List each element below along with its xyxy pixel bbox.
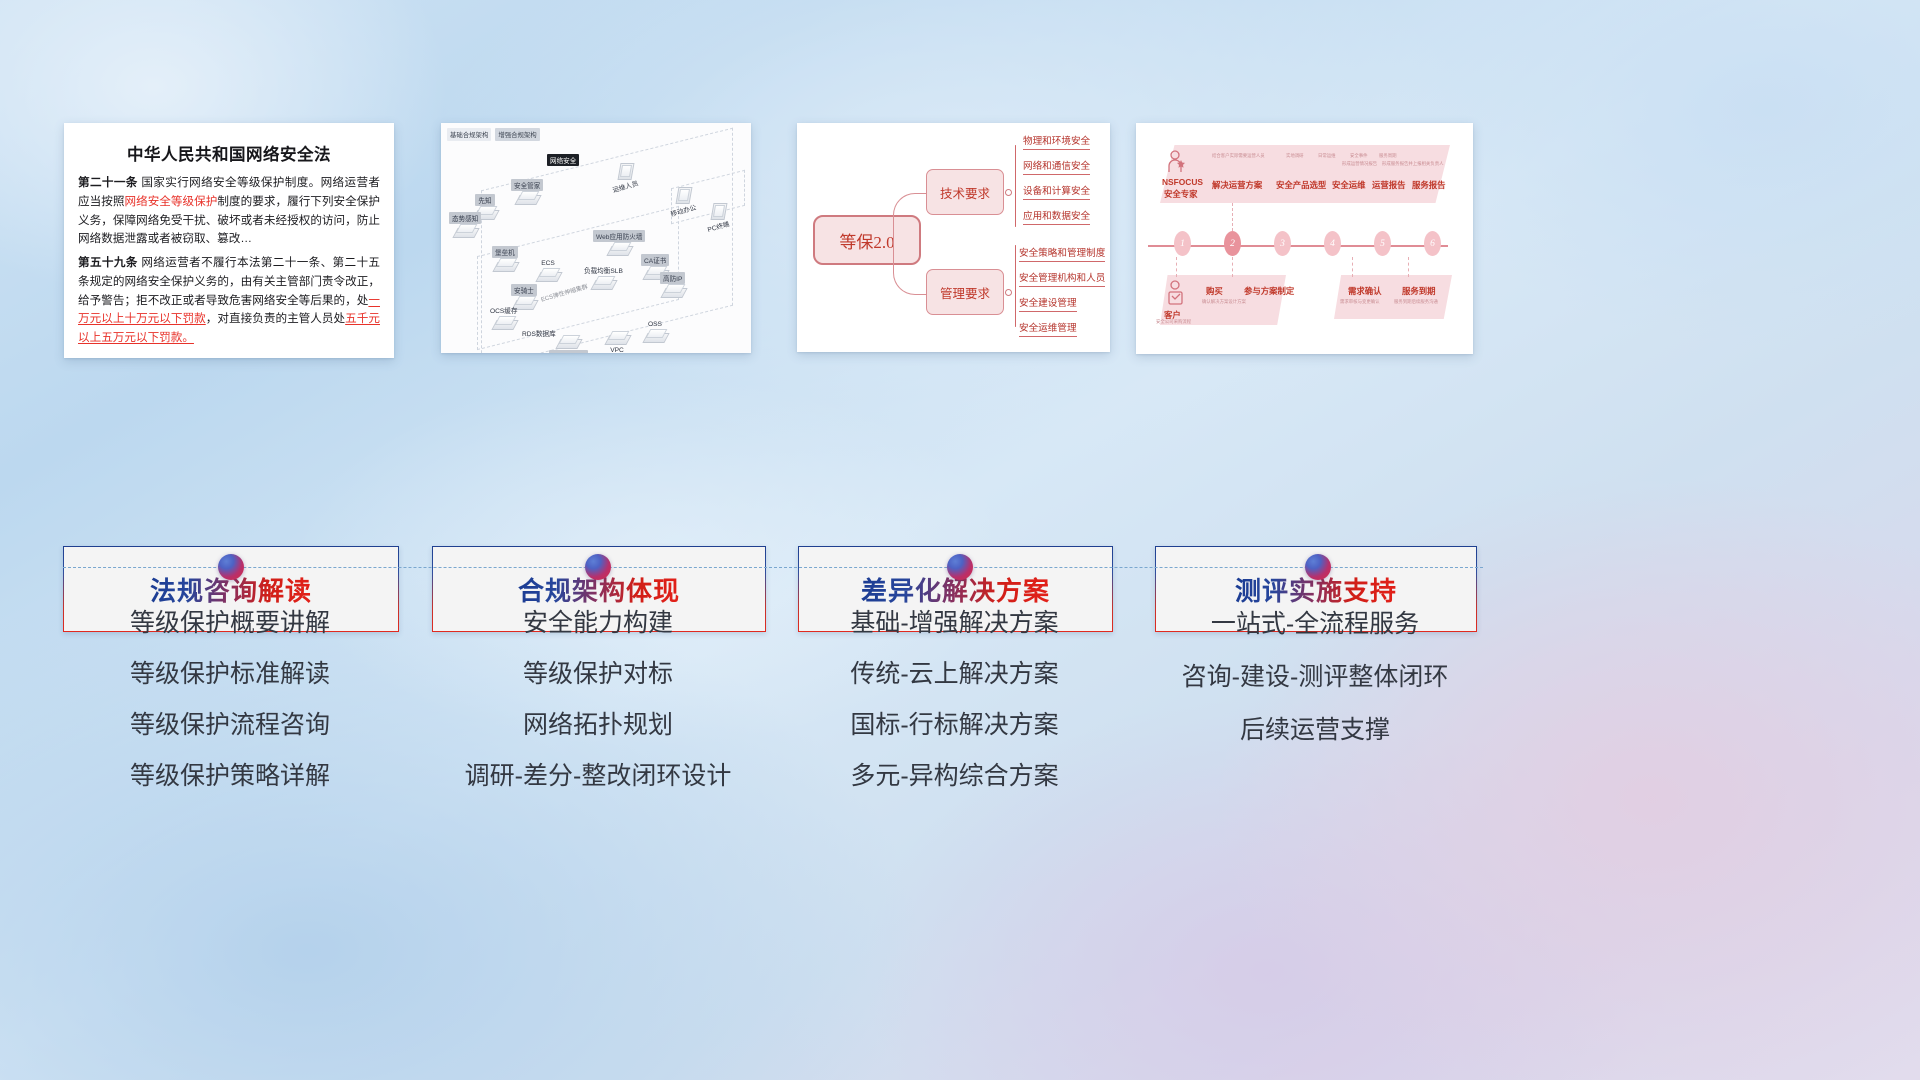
arch-node-security-butler: 安全管家: [511, 178, 543, 205]
arch-tab-basic[interactable]: 基础合规架构: [447, 128, 491, 141]
arch-label: OSS: [645, 320, 665, 329]
nsfocus-tick: [1232, 257, 1233, 277]
timeline-node-4[interactable]: [1305, 554, 1331, 580]
list-item: 调研-差分-整改闭环设计: [432, 751, 764, 802]
law-article-21: 第二十一条 国家实行网络安全等级保护制度。网络运营者应当按照网络安全等级保护制度…: [78, 174, 380, 249]
mindmap-spine-tech: [1015, 145, 1016, 227]
list-item: 网络拓扑规划: [432, 700, 764, 751]
architecture-tabs: 基础合规架构 增强合规架构: [447, 128, 540, 141]
nsfocus-bottom-title: 参与方案制定: [1244, 285, 1294, 297]
arch-node-waf: Web应用防火墙: [593, 229, 645, 256]
nsfocus-bottom-title: 需求确认: [1348, 285, 1382, 297]
nsfocus-step: 6: [1424, 231, 1441, 256]
mindmap-collapse-icon-mgmt[interactable]: [1005, 289, 1012, 296]
arch-label: VPC: [607, 346, 627, 353]
arch-label: 数据库审计: [549, 350, 588, 353]
mindmap-spine-mgmt: [1015, 245, 1016, 327]
nsfocus-timeline: NSFOCUS 安全专家 结合客户实际需要运营人员 实地调研 日常运维 安全事件…: [1136, 123, 1473, 354]
server-icon: [537, 268, 559, 282]
mindmap-collapse-icon-tech[interactable]: [1005, 189, 1012, 196]
nsfocus-bottom-sub: 确认解决方案设计方案: [1202, 299, 1246, 305]
nsfocus-top-sub: 结合客户实际需要运营人员: [1212, 153, 1265, 159]
arch-node-anti-ddos-ip: 高防IP: [660, 271, 685, 298]
mindmap-branch-management: 管理要求: [926, 269, 1004, 315]
article-21-highlight: 网络安全等级保护: [124, 195, 217, 208]
arch-node-situation-awareness: 态势感知: [449, 211, 481, 238]
arch-node-ocs-cache: OCS缓存: [487, 303, 520, 330]
arch-node-mobile-office: 移动办公: [667, 185, 699, 216]
timeline-node-3[interactable]: [947, 554, 973, 580]
list-item: 等级保护流程咨询: [63, 700, 397, 751]
list-item: 后续运营支撑: [1155, 704, 1475, 757]
nsfocus-tick: [1232, 203, 1233, 231]
architecture-diagram: 基础合规架构 增强合规架构 网络安全 安全管家 先知 态: [441, 123, 751, 353]
nsfocus-step: 4: [1324, 231, 1341, 256]
arch-label: 负载均衡SLB: [581, 264, 626, 276]
server-icon: [494, 258, 516, 272]
nsfocus-bottom-sub: 服务到期后续服务沟通: [1394, 299, 1438, 305]
nsfocus-axis: [1148, 245, 1448, 247]
cards-row: 中华人民共和国网络安全法 第二十一条 国家实行网络安全等级保护制度。网络运营者应…: [0, 123, 1920, 363]
mindmap-leaf: 物理和环境安全: [1023, 133, 1090, 150]
timeline-node-2[interactable]: [585, 554, 611, 580]
user-icon: [617, 161, 633, 179]
timeline-dashed-line: [63, 567, 1483, 568]
nsfocus-customer-band-2: [1334, 275, 1452, 319]
arch-node-ops-staff: 运维人员: [609, 161, 641, 192]
list-differentiated-solution: 基础-增强解决方案 传统-云上解决方案 国标-行标解决方案 多元-异构综合方案: [798, 598, 1111, 802]
nsfocus-provider-band: [1160, 145, 1450, 203]
server-icon: [592, 276, 614, 290]
arch-label: OCS缓存: [487, 304, 520, 316]
arch-label: 先知: [475, 194, 494, 206]
nsfocus-top-sub: 实地调研: [1286, 153, 1304, 159]
law-title: 中华人民共和国网络安全法: [78, 141, 380, 165]
server-icon: [557, 335, 579, 349]
nsfocus-top-title: 安全产品选型: [1276, 179, 1326, 191]
card-cybersecurity-law[interactable]: 中华人民共和国网络安全法 第二十一条 国家实行网络安全等级保护制度。网络运营者应…: [64, 123, 394, 358]
list-item: 多元-异构综合方案: [798, 751, 1111, 802]
expert-avatar-icon: [1166, 149, 1186, 175]
nsfocus-top-sub: 服务周期: [1379, 153, 1397, 159]
list-item: 安全能力构建: [432, 598, 764, 649]
card-nsfocus-timeline[interactable]: NSFOCUS 安全专家 结合客户实际需要运营人员 实地调研 日常运维 安全事件…: [1136, 123, 1473, 354]
mindmap-leaf: 网络和通信安全: [1023, 158, 1090, 175]
law-article-59: 第五十九条 网络运营者不履行本法第二十一条、第二十五条规定的网络安全保护义务的，…: [78, 254, 380, 348]
arch-node-bastion-host: 堡垒机: [492, 245, 518, 272]
arch-label: 态势感知: [449, 212, 481, 224]
list-regulation-consulting: 等级保护概要讲解 等级保护标准解读 等级保护流程咨询 等级保护策略详解: [63, 598, 397, 802]
timeline: [63, 567, 1483, 568]
nsfocus-tick: [1352, 257, 1353, 277]
mindmap: 等保2.0 技术要求 管理要求 物理和环境安全 网络和通信安全 设备和计算安全 …: [797, 123, 1110, 352]
article-59-label: 第五十九条: [78, 256, 138, 269]
nsfocus-bottom-sub: 安全公司采购流程: [1156, 319, 1191, 325]
list-item: 国标-行标解决方案: [798, 700, 1111, 751]
nsfocus-top-title: 服务报告: [1412, 179, 1446, 191]
list-item: 基础-增强解决方案: [798, 598, 1111, 649]
nsfocus-top-sub: 形成服务报告并上报相关负责人: [1382, 161, 1443, 167]
arch-label: 安全管家: [511, 179, 543, 191]
mindmap-leaf: 安全建设管理: [1019, 295, 1077, 312]
list-item: 等级保护概要讲解: [63, 598, 397, 649]
arch-node-network-security: 网络安全: [547, 153, 579, 166]
nsfocus-top-sub: 日常运维: [1318, 153, 1336, 159]
arch-node-ecs-cluster: ECS弹性伸缩集群: [537, 286, 591, 298]
mindmap-leaf: 安全管理机构和人员: [1019, 270, 1105, 287]
law-document: 中华人民共和国网络安全法 第二十一条 国家实行网络安全等级保护制度。网络运营者应…: [64, 123, 394, 358]
list-evaluation-support: 一站式-全流程服务 咨询-建设-测评整体闭环 后续运营支撑: [1155, 598, 1475, 757]
server-icon: [662, 284, 684, 298]
server-icon: [608, 242, 630, 256]
list-compliance-architecture: 安全能力构建 等级保护对标 网络拓扑规划 调研-差分-整改闭环设计: [432, 598, 764, 802]
nsfocus-step: 1: [1174, 231, 1191, 256]
customer-avatar-icon: [1166, 279, 1186, 307]
article-21-label: 第二十一条: [78, 176, 138, 189]
nsfocus-bottom-sub: 需求审核与变更确认: [1340, 299, 1380, 305]
article-59-mid: ，对直接负责的主管人员处: [206, 312, 345, 325]
mindmap-leaf: 设备和计算安全: [1023, 183, 1090, 200]
arch-label: 网络安全: [547, 154, 579, 166]
mindmap-leaf: 安全运维管理: [1019, 320, 1077, 337]
nsfocus-tick: [1408, 257, 1409, 277]
server-icon: [454, 224, 476, 238]
arch-node-oss: OSS: [644, 319, 666, 343]
list-item: 等级保护对标: [432, 649, 764, 700]
mindmap-leaf: 应用和数据安全: [1023, 208, 1090, 225]
arch-label: Web应用防火墙: [593, 230, 645, 242]
arch-label: CA证书: [641, 254, 669, 266]
nsfocus-step: 2: [1224, 231, 1241, 256]
page-stage: 中华人民共和国网络安全法 第二十一条 国家实行网络安全等级保护制度。网络运营者应…: [0, 0, 1920, 1080]
list-item: 一站式-全流程服务: [1155, 598, 1475, 651]
list-item: 传统-云上解决方案: [798, 649, 1111, 700]
nsfocus-top-sub: 形成运营情况报告: [1342, 161, 1377, 167]
nsfocus-brand: NSFOCUS: [1162, 177, 1203, 187]
nsfocus-step: 3: [1274, 231, 1291, 256]
server-icon: [644, 329, 666, 343]
nsfocus-tick: [1176, 257, 1177, 277]
mindmap-leaf: 安全策略和管理制度: [1019, 245, 1105, 262]
device-icon: [710, 201, 726, 219]
arch-node-db-audit: 数据库审计: [549, 335, 588, 353]
arch-label: 堡垒机: [492, 246, 518, 258]
card-dengbao-mindmap[interactable]: 等保2.0 技术要求 管理要求 物理和环境安全 网络和通信安全 设备和计算安全 …: [797, 123, 1110, 352]
nsfocus-brand-sub: 安全专家: [1164, 188, 1198, 200]
mindmap-branch-technical: 技术要求: [926, 169, 1004, 215]
arch-node-vpc: VPC: [606, 331, 628, 353]
list-item: 等级保护策略详解: [63, 751, 397, 802]
arch-node-ecs: ECS: [537, 258, 559, 282]
server-icon: [516, 191, 538, 205]
nsfocus-top-title: 解决运营方案: [1212, 179, 1262, 191]
arch-label: ECS: [538, 259, 558, 268]
nsfocus-bottom-title: 购买: [1206, 285, 1223, 297]
arch-label: 高防IP: [660, 272, 685, 284]
timeline-node-1[interactable]: [218, 554, 244, 580]
nsfocus-top-title: 安全运维: [1332, 179, 1366, 191]
list-item: 咨询-建设-测评整体闭环: [1155, 651, 1475, 704]
arch-label: 安骑士: [511, 284, 537, 296]
server-icon: [606, 331, 628, 345]
nsfocus-top-title: 运营报告: [1372, 179, 1406, 191]
arch-node-pc-terminal: PC终端: [704, 201, 732, 232]
nsfocus-step: 5: [1374, 231, 1391, 256]
arch-tab-enhanced[interactable]: 增强合规架构: [495, 128, 539, 141]
server-icon: [493, 316, 515, 330]
list-item: 等级保护标准解读: [63, 649, 397, 700]
nsfocus-bottom-title: 服务到期: [1402, 285, 1436, 297]
device-icon: [675, 185, 691, 203]
nsfocus-top-sub: 安全事件: [1350, 153, 1368, 159]
card-compliance-architecture[interactable]: 基础合规架构 增强合规架构 网络安全 安全管家 先知 态: [441, 123, 751, 353]
